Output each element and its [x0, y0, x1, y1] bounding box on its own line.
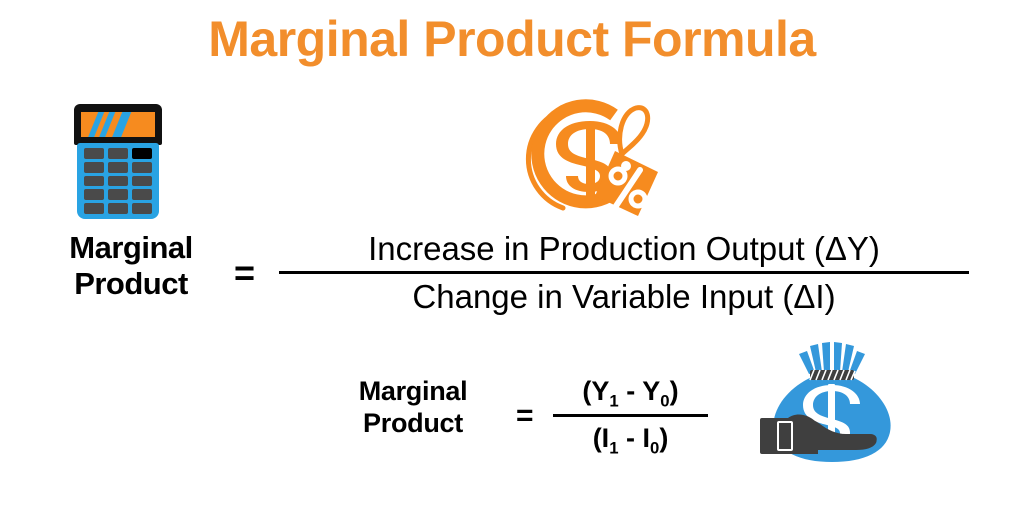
sub-formula-numerator-mid: - Y — [619, 376, 661, 406]
money-bag-in-hand-icon — [748, 342, 928, 472]
sub-formula-denominator-open: (I — [593, 423, 610, 453]
main-formula-fraction: Increase in Production Output (ΔY) Chang… — [279, 228, 969, 318]
calculator-key — [84, 148, 104, 159]
calculator-key — [84, 189, 104, 200]
calculator-key — [132, 162, 152, 173]
calculator-key — [84, 203, 104, 214]
calculator-key — [132, 148, 152, 159]
main-formula-left-label-line2: Product — [36, 266, 226, 302]
calculator-key — [108, 148, 128, 159]
sub-formula-fraction: (Y1 - Y0) (I1 - I0) — [553, 372, 708, 460]
calculator-key — [108, 203, 128, 214]
main-formula-left-label-line1: Marginal — [36, 230, 226, 266]
sub-formula-left-label-line2: Product — [318, 408, 508, 440]
calculator-key — [132, 189, 152, 200]
sub-formula: Marginal Product = (Y1 - Y0) (I1 - I0) — [318, 372, 738, 482]
calculator-body — [77, 143, 159, 219]
main-formula-denominator: Change in Variable Input (ΔI) — [279, 276, 969, 318]
sub-formula-denominator-close: ) — [659, 423, 668, 453]
calculator-key — [108, 176, 128, 187]
sub-formula-numerator-close: ) — [670, 376, 679, 406]
calculator-key — [108, 162, 128, 173]
main-formula-fraction-bar — [279, 271, 969, 274]
main-formula: Marginal Product = Increase in Productio… — [36, 228, 971, 320]
sub-formula-numerator-open: (Y — [582, 376, 609, 406]
sub-formula-denominator-subscript-1: 1 — [609, 439, 618, 458]
sub-formula-left-label: Marginal Product — [318, 376, 508, 439]
calculator-icon — [74, 104, 162, 219]
sub-formula-numerator-subscript-0: 0 — [660, 391, 669, 410]
sub-formula-numerator-subscript-1: 1 — [609, 391, 618, 410]
calculator-key — [84, 176, 104, 187]
calculator-key — [84, 162, 104, 173]
calculator-key — [132, 176, 152, 187]
calculator-key — [132, 203, 152, 214]
sub-formula-left-label-line1: Marginal — [318, 376, 508, 408]
calculator-keypad — [84, 148, 152, 214]
dollar-percent-tag-icon — [518, 96, 668, 222]
calculator-display — [81, 112, 155, 137]
sub-formula-denominator-subscript-0: 0 — [650, 439, 659, 458]
sub-formula-numerator: (Y1 - Y0) — [553, 372, 708, 413]
sub-formula-denominator-mid: - I — [619, 423, 651, 453]
main-formula-left-label: Marginal Product — [36, 230, 226, 302]
main-formula-equals-sign: = — [234, 252, 255, 294]
sub-formula-equals-sign: = — [516, 399, 534, 433]
sub-formula-denominator: (I1 - I0) — [553, 419, 708, 460]
sub-formula-fraction-bar — [553, 414, 708, 417]
calculator-key — [108, 189, 128, 200]
page-title: Marginal Product Formula — [0, 8, 1024, 71]
main-formula-numerator: Increase in Production Output (ΔY) — [279, 228, 969, 270]
calculator-top-shell — [74, 104, 162, 145]
